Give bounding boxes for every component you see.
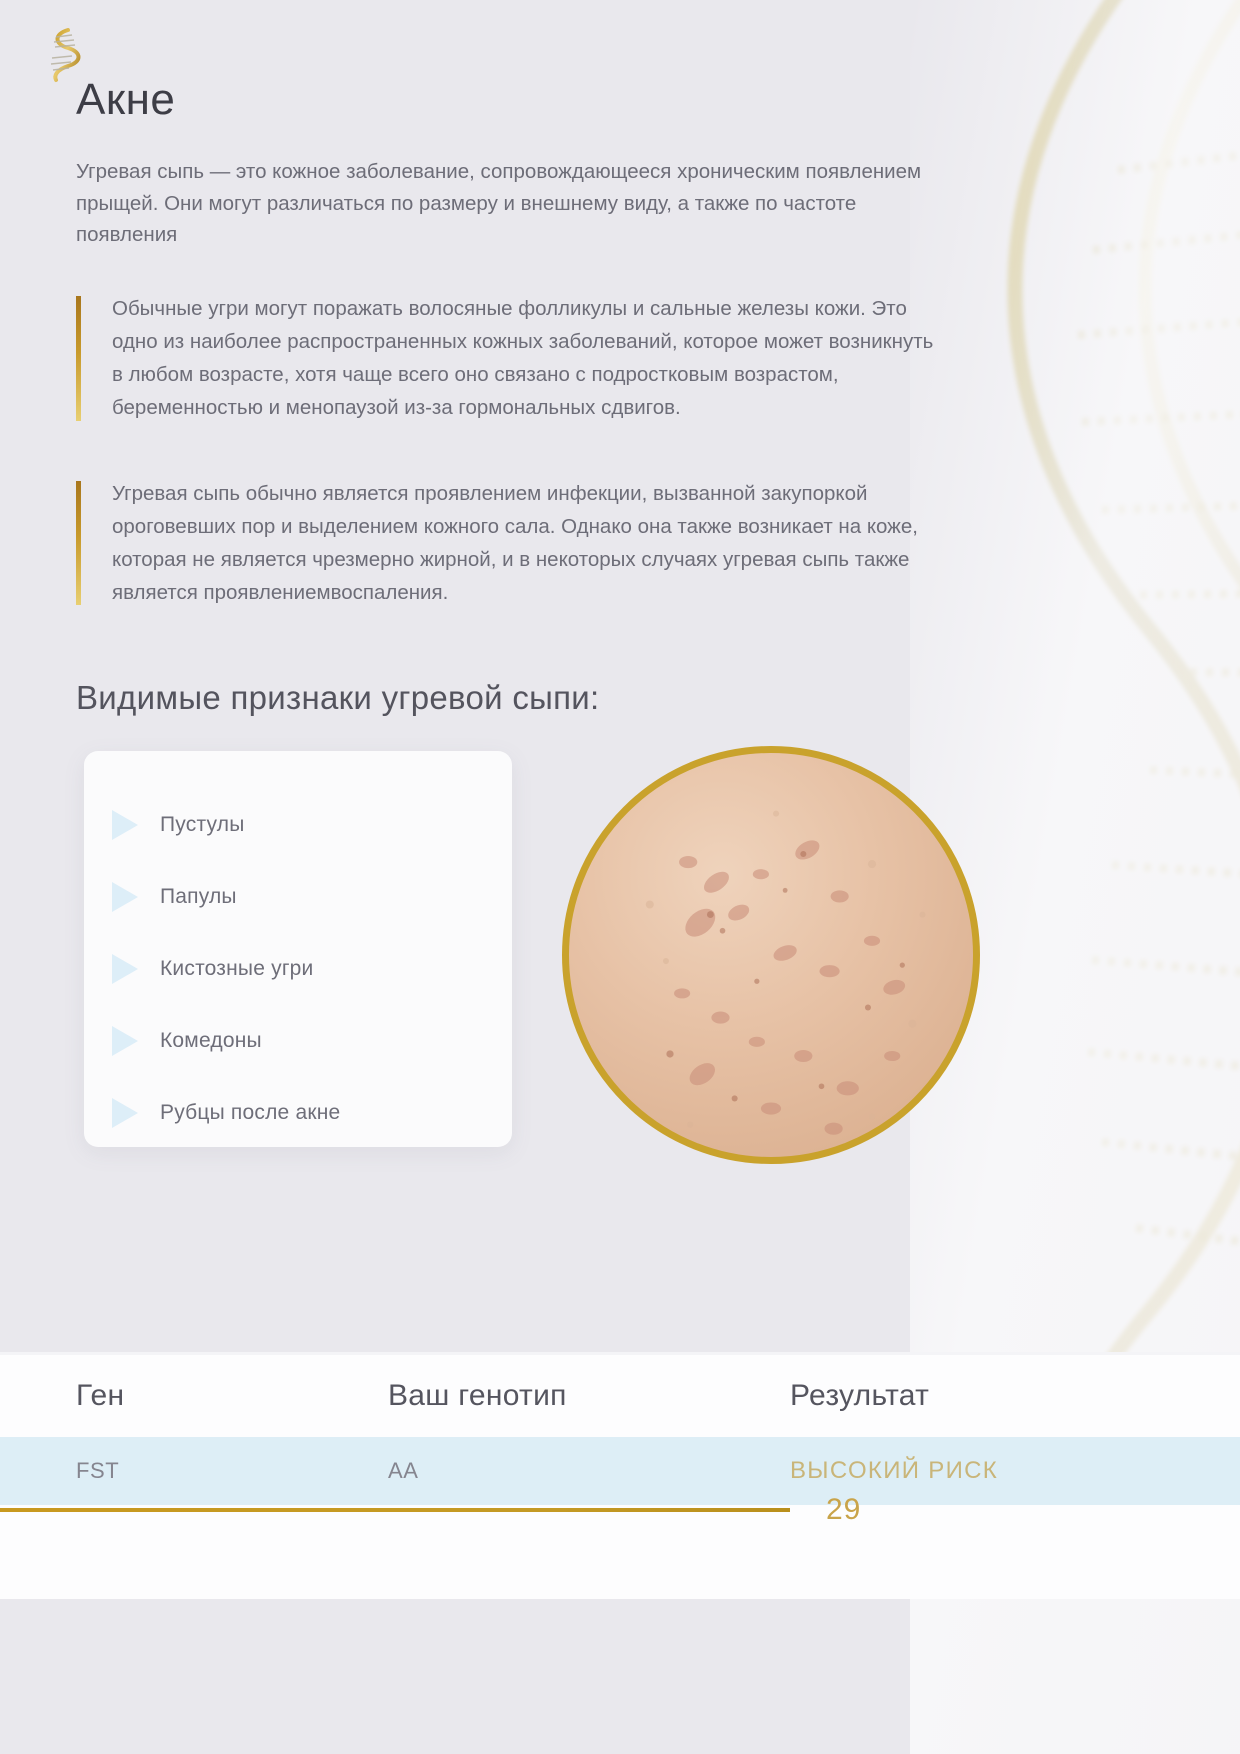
list-item: Комедоны (84, 1005, 512, 1077)
sign-label: Комедоны (160, 1029, 262, 1053)
page-number: 29 (826, 1493, 861, 1527)
column-header-genotype: Ваш генотип (388, 1379, 790, 1413)
page-title: Акне (76, 76, 976, 124)
article-content: Акне Угревая сыпь — это кожное заболеван… (76, 0, 976, 1181)
section-heading-visible-signs: Видимые признаки угревой сыпи: (76, 679, 976, 717)
page-canvas: Акне Угревая сыпь — это кожное заболеван… (0, 0, 1240, 1754)
results-table: Ген Ваш генотип Результат FST AA ВЫСОКИЙ… (0, 1352, 1240, 1599)
quote-block-2: Угревая сыпь обычно является проявлением… (76, 477, 946, 610)
signs-card: Пустулы Папулы Кистозные угри Комедоны Р… (84, 751, 512, 1147)
list-item: Кистозные угри (84, 933, 512, 1005)
triangle-bullet-icon (112, 810, 138, 840)
skin-acne-photo (562, 746, 980, 1164)
column-header-result: Результат (790, 1379, 1164, 1413)
sign-label: Папулы (160, 885, 237, 909)
triangle-bullet-icon (112, 954, 138, 984)
page-footer: 29 (0, 1480, 1240, 1540)
sign-label: Пустулы (160, 813, 245, 837)
intro-paragraph: Угревая сыпь — это кожное заболевание, с… (76, 156, 956, 249)
sign-label: Кистозные угри (160, 957, 314, 981)
column-header-gene: Ген (76, 1379, 388, 1413)
list-item: Рубцы после акне (84, 1077, 512, 1149)
list-item: Пустулы (84, 789, 512, 861)
triangle-bullet-icon (112, 882, 138, 912)
quote-block-1: Обычные угри могут поражать волосяные фо… (76, 292, 946, 425)
sign-label: Рубцы после акне (160, 1101, 340, 1125)
triangle-bullet-icon (112, 1098, 138, 1128)
triangle-bullet-icon (112, 1026, 138, 1056)
signs-area: Пустулы Папулы Кистозные угри Комедоны Р… (76, 751, 976, 1181)
table-header-row: Ген Ваш генотип Результат (0, 1355, 1240, 1437)
list-item: Папулы (84, 861, 512, 933)
footer-gold-rule (0, 1508, 790, 1512)
